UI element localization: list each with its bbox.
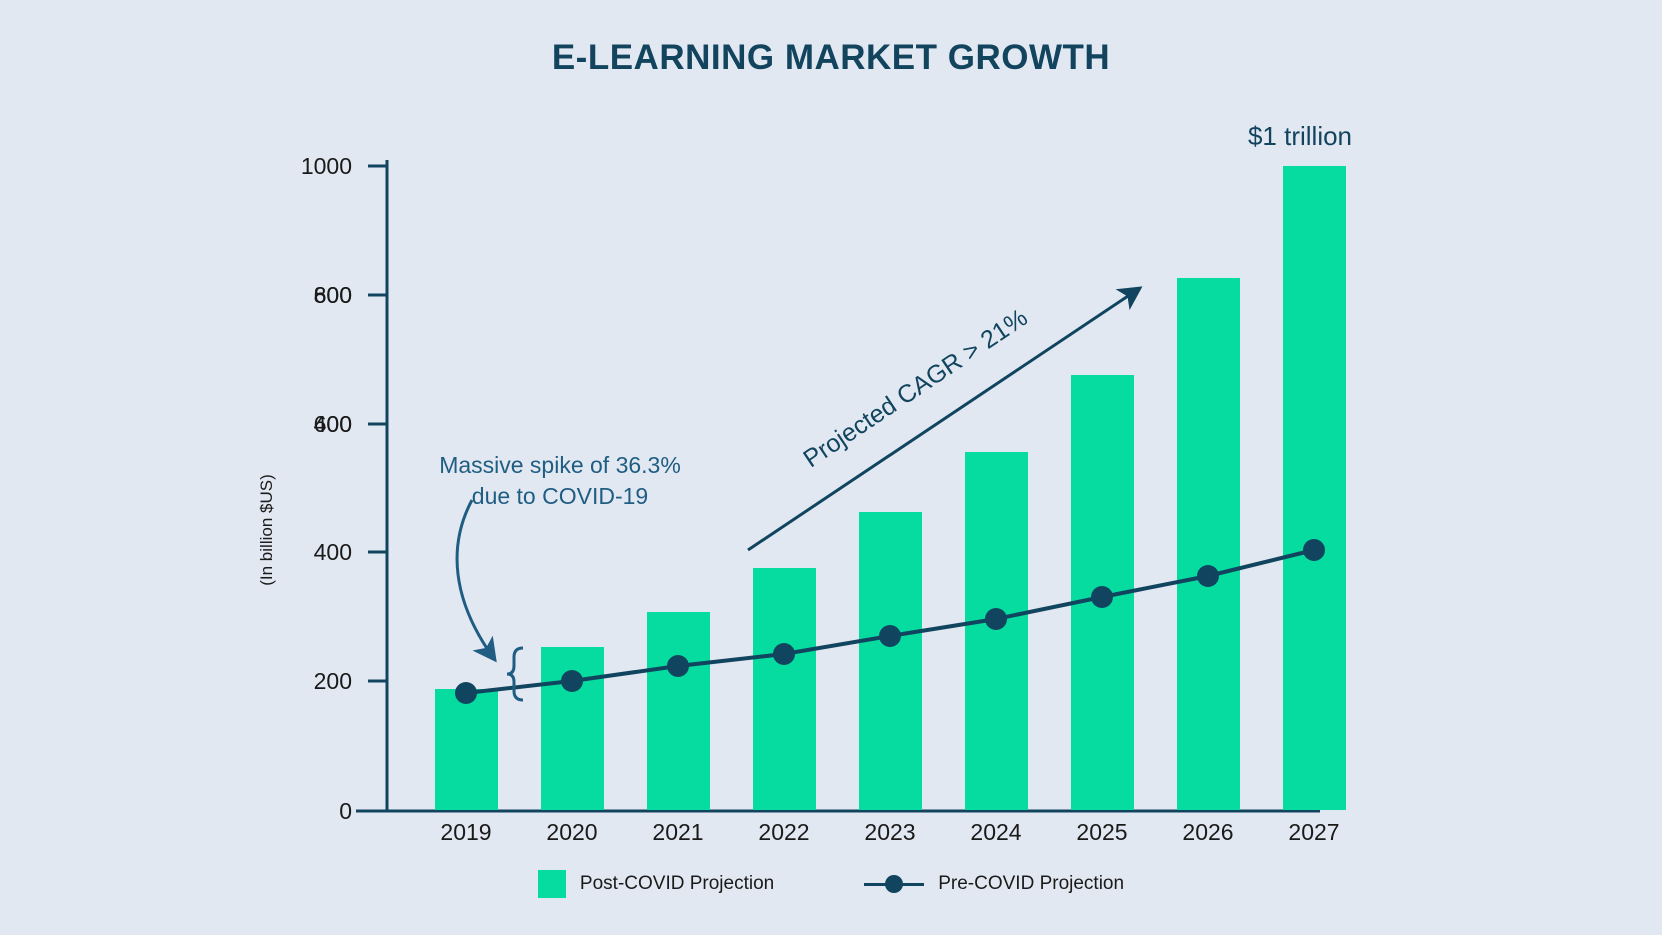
y-axis-ticks [368, 166, 387, 681]
bar-2023[interactable] [859, 512, 922, 810]
bar-2019[interactable] [435, 689, 498, 810]
line-marker-2020[interactable] [561, 670, 583, 692]
x-tick-label-2025: 2025 [1076, 819, 1127, 845]
legend-label-post-covid: Post-COVID Projection [580, 873, 774, 895]
x-tick-label-2020: 2020 [546, 819, 597, 845]
bar-2024[interactable] [965, 452, 1028, 810]
legend-label-pre-covid: Pre-COVID Projection [938, 873, 1124, 895]
x-tick-label-2022: 2022 [758, 819, 809, 845]
y-tick-labels-extra: 400 600 800 [314, 282, 352, 565]
x-tick-label-2026: 2026 [1182, 819, 1233, 845]
chart-canvas: E-LEARNING MARKET GROWTH 0 200 400 [0, 0, 1662, 935]
y-tick-label-0: 0 [339, 798, 352, 824]
legend-item-post-covid[interactable]: Post-COVID Projection [538, 870, 774, 898]
x-tick-label-2024: 2024 [970, 819, 1021, 845]
legend-item-pre-covid[interactable]: Pre-COVID Projection [864, 873, 1124, 895]
legend-line-dot-icon [864, 873, 924, 895]
y-tick-label-1000: 1000 [301, 153, 352, 179]
line-marker-2026[interactable] [1197, 565, 1219, 587]
x-tick-label-2021: 2021 [652, 819, 703, 845]
x-tick-label-2027: 2027 [1288, 819, 1339, 845]
cagr-annotation: Projected CAGR > 21% [798, 303, 1032, 473]
line-marker-2024[interactable] [985, 608, 1007, 630]
bar-2022[interactable] [753, 568, 816, 810]
peak-value-label: $1 trillion [1248, 121, 1352, 151]
line-marker-2019[interactable] [455, 682, 477, 704]
y-axis-title: (In billion $US) [257, 474, 276, 586]
line-marker-2025[interactable] [1091, 586, 1113, 608]
spike-arrow-icon [457, 500, 495, 660]
y-tick-label-200: 200 [314, 668, 352, 694]
y-tick-label-400-real: 400 [314, 539, 352, 565]
line-marker-2021[interactable] [667, 655, 689, 677]
y-tick-labels: 0 200 400 600 400 1000 [301, 153, 352, 824]
bar-2027[interactable] [1283, 166, 1346, 810]
y-tick-label-800-real: 800 [314, 282, 352, 308]
spike-annotation-line1: Massive spike of 36.3% [439, 452, 681, 478]
x-tick-labels: 2019 2020 2021 2022 2023 2024 2025 2026 … [440, 819, 1339, 845]
y-tick-label-600-real: 600 [314, 411, 352, 437]
bar-2021[interactable] [647, 612, 710, 810]
chart-legend: Post-COVID Projection Pre-COVID Projecti… [0, 870, 1662, 898]
chart-plot-area: 0 200 400 600 400 1000 400 600 800 (In b… [0, 0, 1662, 935]
spike-annotation-line2: due to COVID-19 [472, 483, 648, 509]
legend-square-icon [538, 870, 566, 898]
line-marker-2023[interactable] [879, 625, 901, 647]
bar-2026[interactable] [1177, 278, 1240, 810]
x-tick-label-2023: 2023 [864, 819, 915, 845]
x-tick-label-2019: 2019 [440, 819, 491, 845]
spike-brace-icon [507, 648, 523, 700]
line-marker-2027[interactable] [1303, 539, 1325, 561]
line-marker-2022[interactable] [773, 643, 795, 665]
spike-annotation: Massive spike of 36.3% due to COVID-19 [439, 452, 681, 509]
